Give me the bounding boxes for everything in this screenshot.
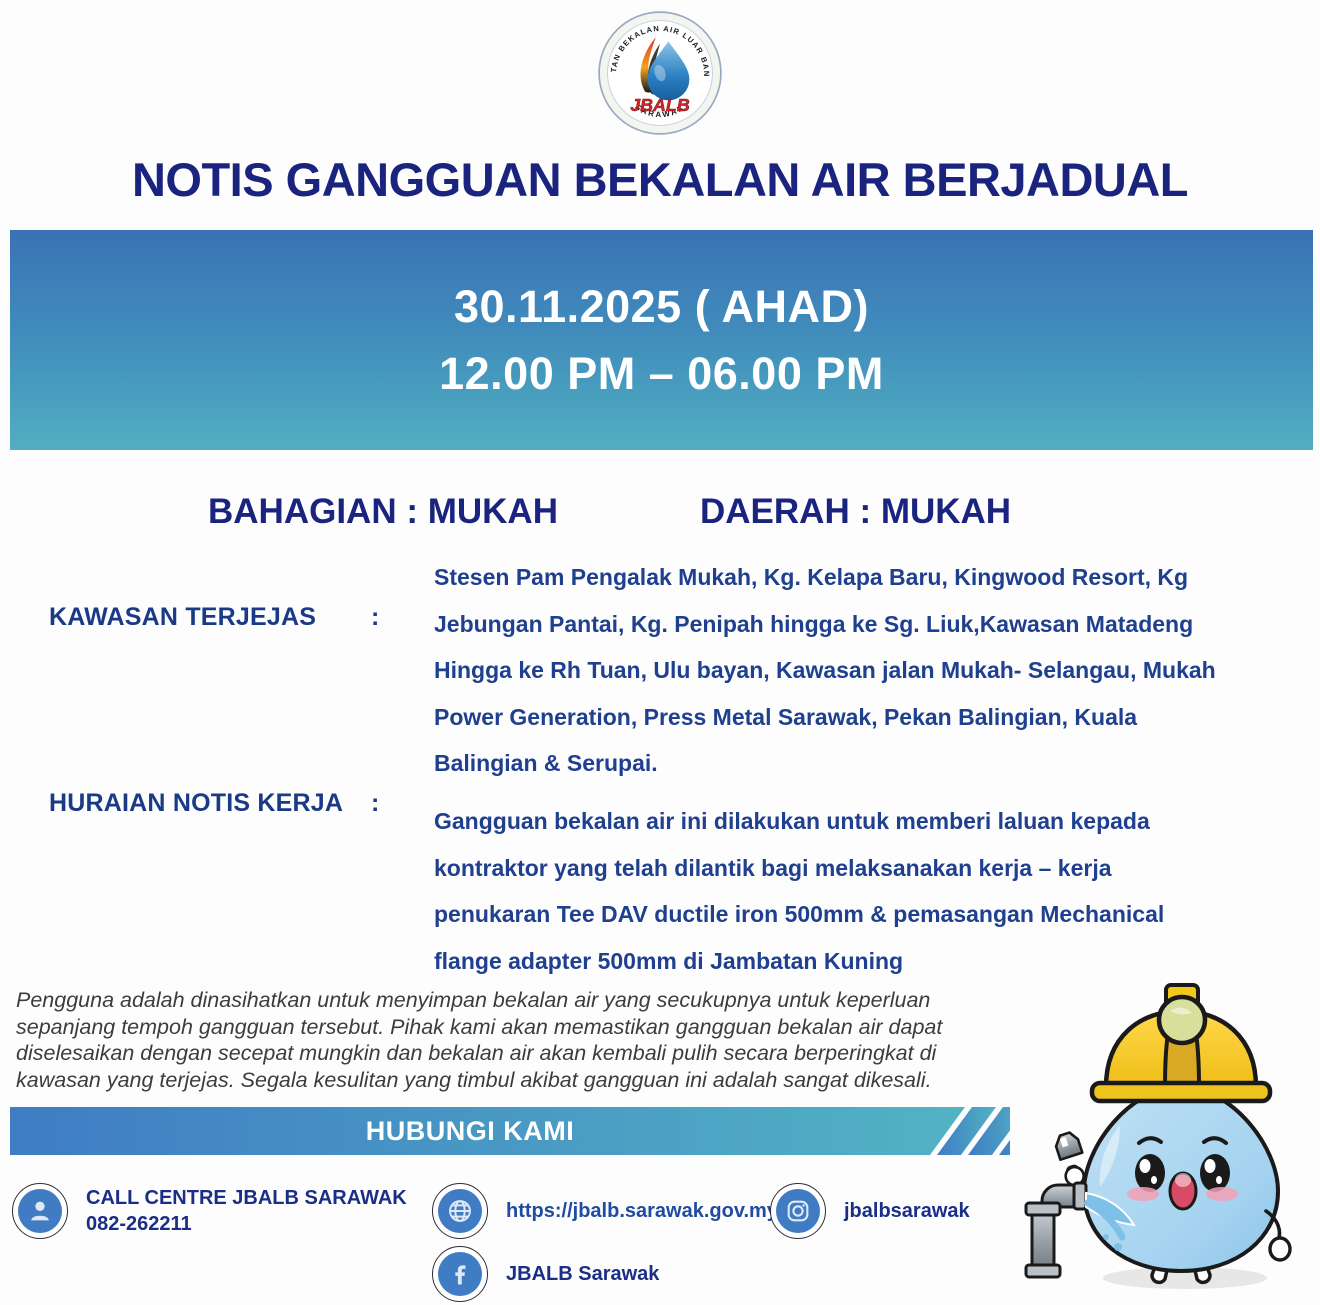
huraian-notis-kerja-value: Gangguan bekalan air ini dilakukan untuk… [434, 798, 1224, 984]
globe-icon [432, 1183, 488, 1239]
contact-instagram[interactable]: jbalbsarawak [770, 1183, 970, 1239]
kawasan-colon: : [371, 603, 379, 632]
contact-call-centre-text: CALL CENTRE JBALB SARAWAK 082-262211 [86, 1185, 407, 1237]
page-title: NOTIS GANGGUAN BEKALAN AIR BERJADUAL [0, 152, 1320, 207]
hubungi-kami-bar: HUBUNGI KAMI [10, 1107, 1010, 1155]
person-icon [12, 1183, 68, 1239]
kawasan-terjejas-label: KAWASAN TERJEJAS [49, 603, 316, 632]
daerah-label: DAERAH : MUKAH [700, 492, 1011, 532]
notice-page: JABATAN BEKALAN AIR LUAR BANDAR SARAWAK … [0, 0, 1320, 1305]
jbalb-logo: JABATAN BEKALAN AIR LUAR BANDAR SARAWAK … [595, 8, 725, 138]
huraian-colon: : [371, 789, 379, 818]
svg-text:JBALB: JBALB [630, 95, 690, 115]
kawasan-terjejas-value: Stesen Pam Pengalak Mukah, Kg. Kelapa Ba… [434, 554, 1246, 787]
region-row: BAHAGIAN : MUKAH DAERAH : MUKAH [0, 492, 1320, 542]
call-centre-phone: 082-262211 [86, 1211, 407, 1237]
instagram-icon [770, 1183, 826, 1239]
date-time-banner: 30.11.2025 ( AHAD) 12.00 PM – 06.00 PM [10, 230, 1313, 450]
contact-website[interactable]: https://jbalb.sarawak.gov.my/ [432, 1183, 783, 1239]
disclaimer-text: Pengguna adalah dinasihatkan untuk menyi… [16, 987, 956, 1093]
facebook-handle[interactable]: JBALB Sarawak [506, 1261, 659, 1287]
facebook-icon [432, 1246, 488, 1302]
bahagian-label: BAHAGIAN : MUKAH [208, 492, 558, 532]
contact-call-centre[interactable]: CALL CENTRE JBALB SARAWAK 082-262211 [12, 1183, 407, 1239]
instagram-handle[interactable]: jbalbsarawak [844, 1198, 970, 1224]
water-droplet-mascot [1010, 975, 1320, 1305]
call-centre-line1: CALL CENTRE JBALB SARAWAK [86, 1187, 407, 1209]
outage-time: 12.00 PM – 06.00 PM [439, 340, 884, 408]
contact-facebook[interactable]: JBALB Sarawak [432, 1246, 659, 1302]
outage-date: 30.11.2025 ( AHAD) [454, 273, 869, 341]
website-url[interactable]: https://jbalb.sarawak.gov.my/ [506, 1198, 783, 1224]
huraian-notis-kerja-label: HURAIAN NOTIS KERJA [49, 789, 343, 818]
